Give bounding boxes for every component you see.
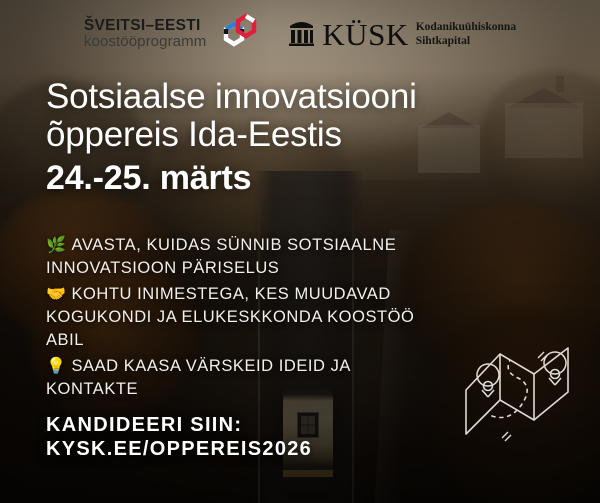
classical-building-icon <box>288 18 315 51</box>
list-item: 💡SAAD KAASA VÄRSKEID IDEID JA KONTAKTE <box>46 355 446 401</box>
folded-map-with-pins-graphic <box>452 330 592 465</box>
kysk-subtitle: Kodanikuühiskonna Sihtkapital <box>416 20 516 48</box>
page-title: Sotsiaalse innovatsiooni õppereis Ida-Ee… <box>46 78 558 154</box>
sveitsi-subtitle: koostööprogramm <box>84 34 206 49</box>
sveitsi-wordmark: ŠVEITSI–EESTI koostööprogramm <box>84 18 206 49</box>
list-item-label: AVASTA, KUIDAS SÜNNIB SOTSIAALNE INNOVAT… <box>46 236 396 277</box>
list-item-label: SAAD KAASA VÄRSKEID IDEID JA KONTAKTE <box>46 357 350 398</box>
kysk-wordmark: KÜSK <box>322 19 408 50</box>
list-item: 🌿AVASTA, KUIDAS SÜNNIB SOTSIAALNE INNOVA… <box>46 234 446 280</box>
kysk-subtitle-line2: Sihtkapital <box>416 35 470 47</box>
sveitsi-eesti-logo: ŠVEITSI–EESTI koostööprogramm <box>84 10 262 59</box>
interlocking-hexagon-rings-logo <box>216 10 262 59</box>
call-to-action[interactable]: KANDIDEERI SIIN: KYSK.EE/OPPEREIS2026 <box>46 413 466 462</box>
sveitsi-title: ŠVEITSI–EESTI <box>84 18 206 34</box>
cta-url[interactable]: KYSK.EE/OPPEREIS2026 <box>46 437 466 461</box>
list-item: 🤝KOHTU INIMESTEGA, KES MUUDAVAD KOGUKOND… <box>46 283 446 352</box>
headline-line-1: Sotsiaalse innovatsiooni <box>46 77 417 116</box>
herb-icon: 🌿 <box>46 237 66 254</box>
event-date: 24.-25. märts <box>46 161 558 197</box>
logo-bar: ŠVEITSI–EESTI koostööprogramm <box>0 10 600 58</box>
kysk-logo: KÜSK Kodanikuühiskonna Sihtkapital <box>288 18 516 51</box>
list-item-label: KOHTU INIMESTEGA, KES MUUDAVAD KOGUKONDI… <box>46 285 414 349</box>
benefits-list: 🌿AVASTA, KUIDAS SÜNNIB SOTSIAALNE INNOVA… <box>46 234 446 400</box>
light-bulb-icon: 💡 <box>46 358 66 375</box>
kysk-subtitle-line1: Kodanikuühiskonna <box>416 21 516 33</box>
poster: ŠVEITSI–EESTI koostööprogramm <box>0 0 600 503</box>
handshake-icon: 🤝 <box>46 286 66 303</box>
cta-label: KANDIDEERI SIIN: <box>46 413 466 437</box>
headline-line-2: õppereis Ida-Eestis <box>46 115 342 154</box>
